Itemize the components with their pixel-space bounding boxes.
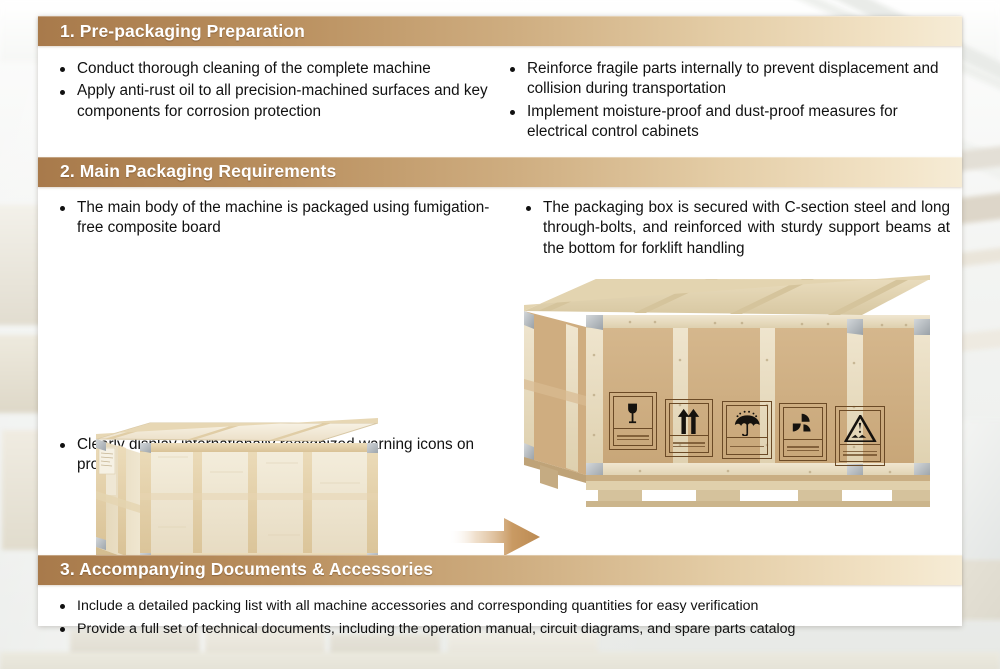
list-item: Conduct thorough cleaning of the complet…	[54, 59, 496, 79]
bullet-column-right: The packaging box is secured with C-sect…	[520, 198, 950, 261]
label-caption-lines	[726, 437, 768, 455]
label-caption-lines	[839, 444, 881, 462]
label-caption-lines	[669, 435, 709, 453]
keep-dry-icon	[722, 401, 772, 459]
list-item: Provide a full set of technical document…	[54, 620, 946, 639]
background-machine-left-3	[2, 430, 42, 550]
marked-crate-illustration	[510, 275, 930, 507]
section-header-documents: 3. Accompanying Documents & Accessories	[38, 555, 962, 585]
list-item: Apply anti-rust oil to all precision-mac…	[54, 81, 496, 122]
warning-triangle-glyph	[836, 411, 884, 446]
list-item: The packaging box is secured with C-sect…	[520, 198, 950, 259]
section-header-main-packaging: 2. Main Packaging Requirements	[38, 157, 962, 187]
up-arrows-glyph	[666, 404, 712, 438]
bullet-column-left: Conduct thorough cleaning of the complet…	[54, 59, 496, 145]
hazard-warning-icon	[835, 406, 885, 466]
section-header-pre-packaging: 1. Pre-packaging Preparation	[38, 16, 962, 46]
bullet-column-left: The main body of the machine is packaged…	[54, 198, 506, 241]
fragile-icon	[609, 392, 657, 450]
no-hooks-icon	[779, 403, 827, 461]
content-card: 1. Pre-packaging Preparation Conduct tho…	[38, 16, 962, 626]
list-item: Reinforce fragile parts internally to pr…	[504, 59, 946, 100]
this-side-up-icon	[665, 399, 713, 457]
section-body-documents: Include a detailed packing list with all…	[38, 585, 962, 652]
list-item: Include a detailed packing list with all…	[54, 597, 946, 616]
no-hooks-glyph	[780, 408, 826, 442]
bullet-column-right: Reinforce fragile parts internally to pr…	[504, 59, 946, 145]
label-caption-lines	[613, 428, 653, 446]
marked-shipping-crate-photo	[510, 275, 930, 507]
background-floor	[0, 652, 1000, 669]
section-title: 2. Main Packaging Requirements	[38, 161, 336, 182]
fragile-glass-glyph	[610, 397, 656, 431]
section-title: 3. Accompanying Documents & Accessories	[38, 559, 433, 580]
list-item: Implement moisture-proof and dust-proof …	[504, 102, 946, 143]
umbrella-glyph	[723, 406, 771, 440]
section-body-main-packaging: The main body of the machine is packaged…	[38, 187, 962, 555]
section-title: 1. Pre-packaging Preparation	[38, 21, 305, 42]
section-body-pre-packaging: Conduct thorough cleaning of the complet…	[38, 46, 962, 157]
list-item: The main body of the machine is packaged…	[54, 198, 506, 239]
label-caption-lines	[783, 439, 823, 457]
